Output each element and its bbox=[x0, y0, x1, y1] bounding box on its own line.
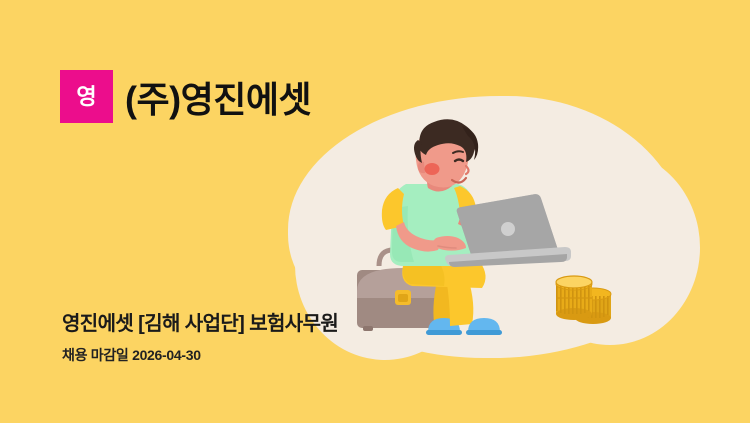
briefcase-icon bbox=[357, 250, 449, 331]
company-logo-badge: 영 bbox=[60, 70, 113, 123]
background-blob-main bbox=[288, 96, 688, 358]
person-figure bbox=[382, 119, 571, 335]
banner-header: 영 (주)영진에셋 bbox=[60, 70, 311, 123]
job-posting-banner: 영 (주)영진에셋 영진에셋 [김해 사업단] 보험사무원 채용 마감일 202… bbox=[0, 0, 750, 423]
background-blob-lobe-top bbox=[360, 98, 590, 278]
laptop-icon bbox=[445, 192, 571, 267]
coin-stack-icon bbox=[556, 276, 611, 324]
background-blob-lobe-right bbox=[520, 150, 700, 345]
company-name: (주)영진에셋 bbox=[125, 71, 311, 123]
application-deadline: 채용 마감일 2026-04-30 bbox=[62, 345, 201, 365]
company-logo-badge-text: 영 bbox=[76, 86, 96, 108]
job-title: 영진에셋 [김해 사업단] 보험사무원 bbox=[62, 307, 338, 336]
